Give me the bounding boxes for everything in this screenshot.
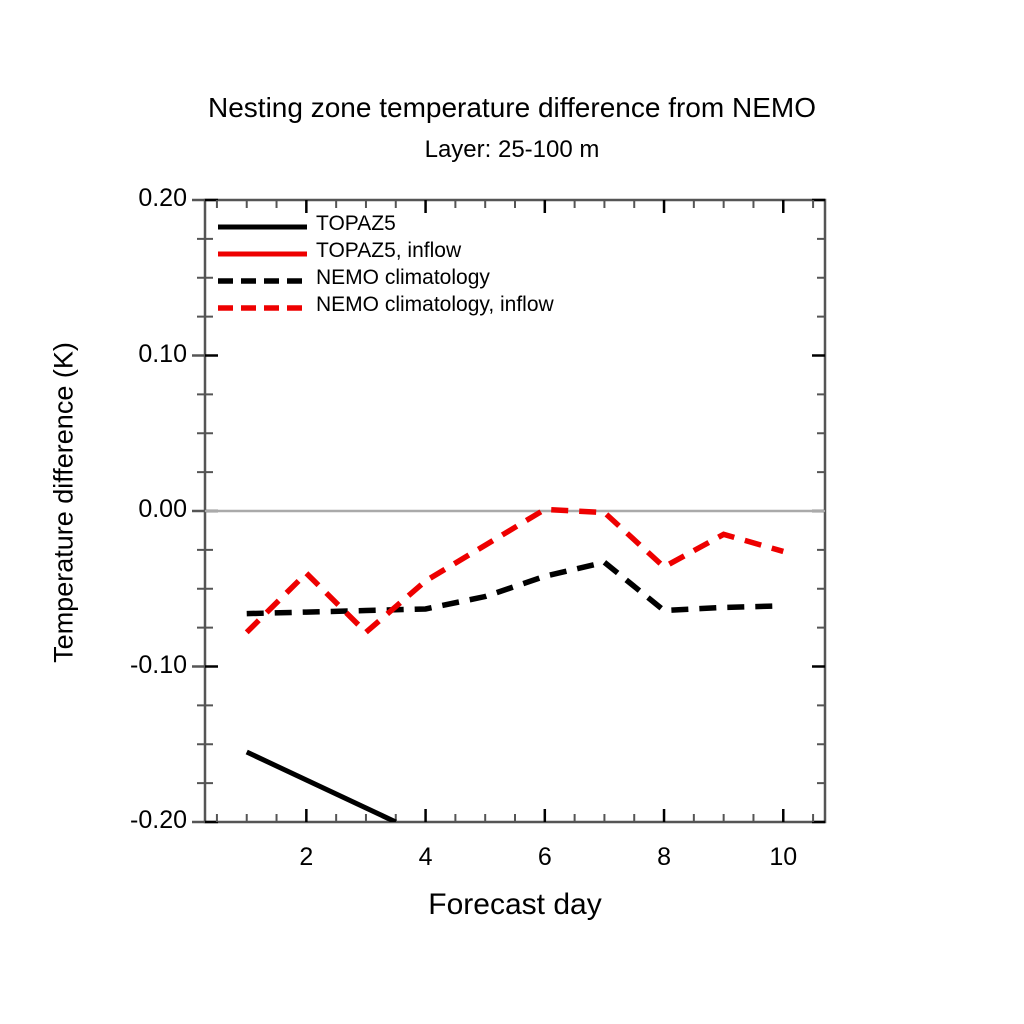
legend-label-0: TOPAZ5 [316,212,396,236]
x-tick-label: 4 [396,843,456,872]
x-tick-label: 10 [753,843,813,872]
chart-figure: Nesting zone temperature difference from… [0,0,1024,1024]
legend-line-samples [218,227,307,308]
x-tick-label: 8 [634,843,694,872]
y-tick-label: 0.10 [87,340,187,369]
legend-label-2: NEMO climatology [316,266,490,290]
y-tick-label: 0.00 [87,495,187,524]
series-line-0 [247,752,396,822]
y-tick-label: 0.20 [87,184,187,213]
series-line-3 [247,509,784,632]
legend-label-1: TOPAZ5, inflow [316,239,461,263]
legend-label-3: NEMO climatology, inflow [316,293,554,317]
x-tick-label: 2 [276,843,336,872]
series-line-2 [247,562,784,613]
y-tick-label: -0.10 [87,651,187,680]
y-tick-label: -0.20 [87,806,187,835]
x-tick-label: 6 [515,843,575,872]
data-series-group [247,509,784,822]
